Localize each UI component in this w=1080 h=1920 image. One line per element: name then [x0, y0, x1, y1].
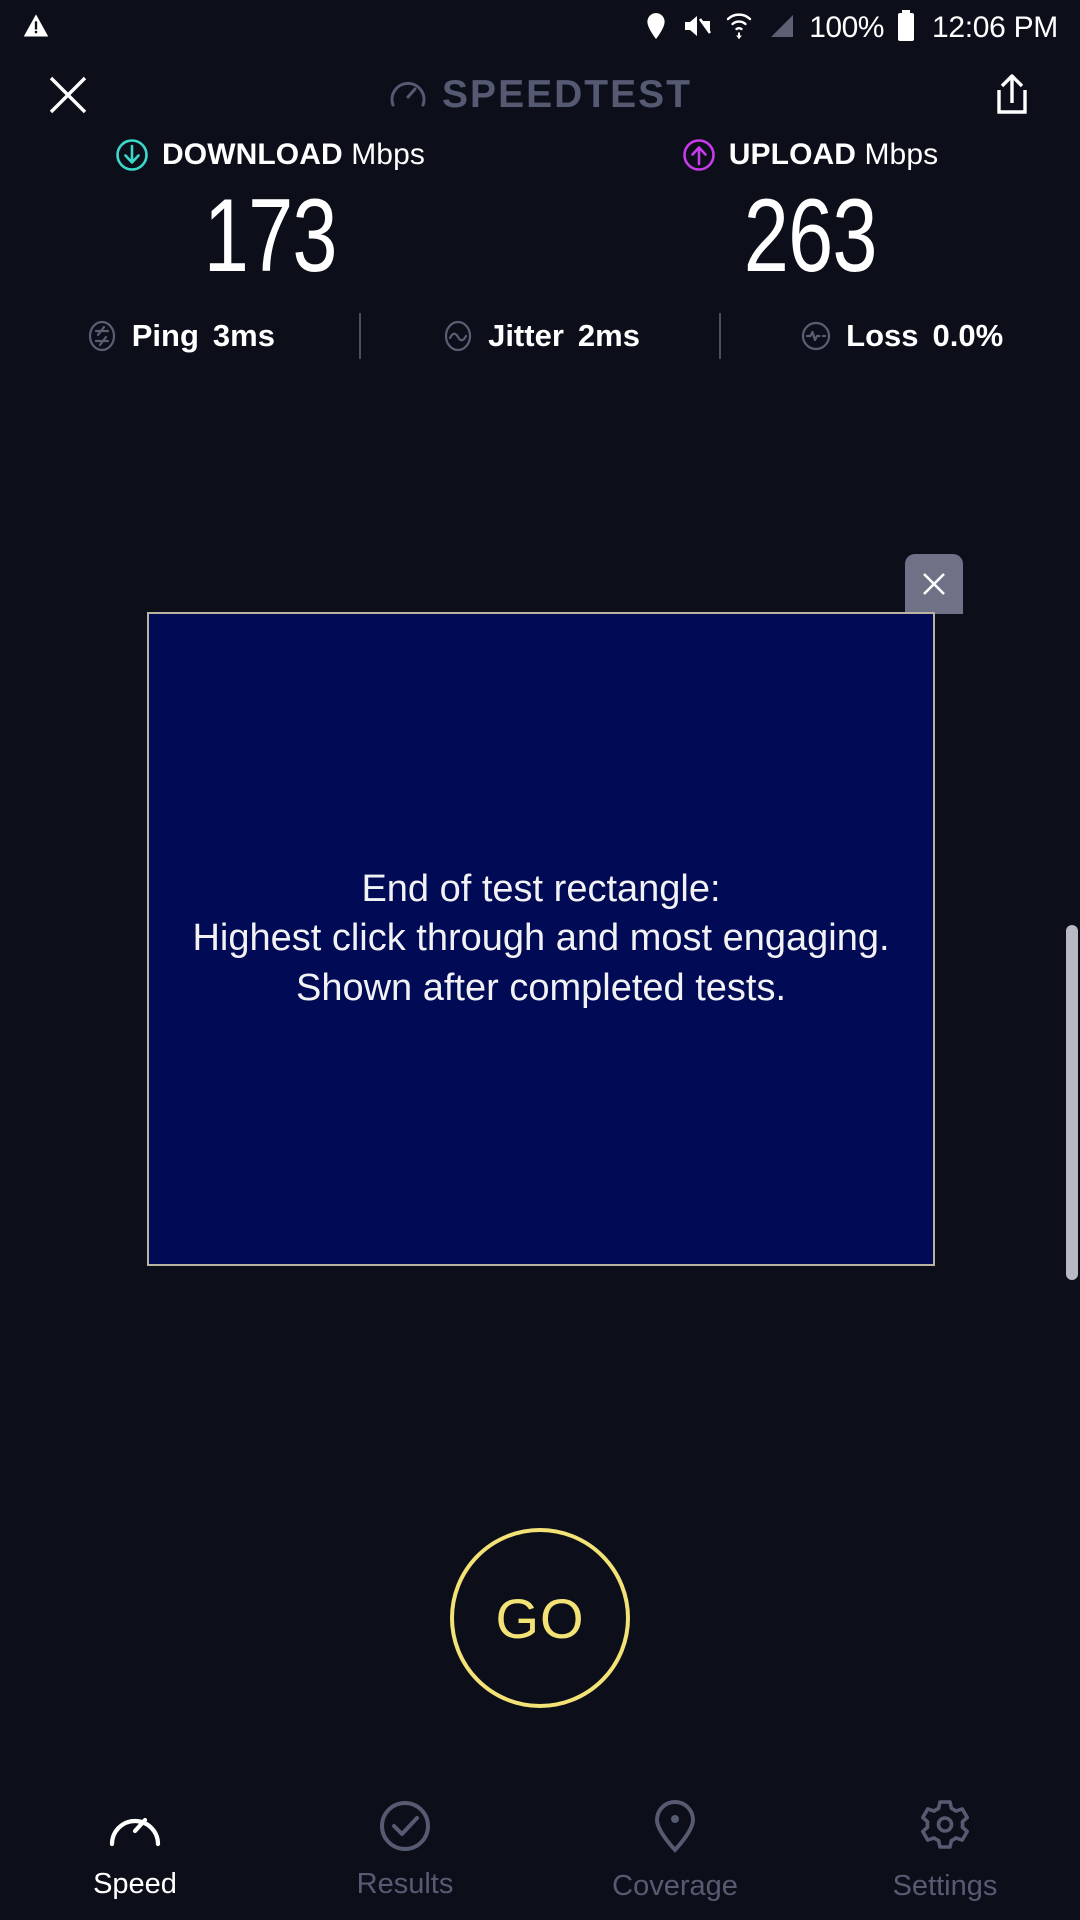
check-circle-icon [375, 1800, 435, 1852]
map-pin-icon [647, 1798, 703, 1854]
upload-unit: Mbps [864, 138, 938, 171]
warning-triangle-icon [22, 12, 50, 45]
nav-item-settings[interactable]: Settings [810, 1780, 1080, 1920]
nav-label-settings: Settings [893, 1870, 998, 1903]
loss-icon [798, 318, 834, 354]
app-title: SPEEDTEST [442, 73, 692, 117]
ping-icon [84, 318, 120, 354]
upload-result: UPLOAD Mbps 263 [540, 138, 1080, 288]
advertisement-container: End of test rectangle: Highest click thr… [147, 612, 935, 1266]
cellular-signal-icon [766, 12, 796, 45]
nav-item-coverage[interactable]: Coverage [540, 1780, 810, 1920]
metric-ping: Ping 3ms [0, 318, 359, 354]
upload-value: 263 [743, 184, 876, 288]
metric-loss: Loss 0.0% [721, 318, 1080, 354]
go-button-label: GO [495, 1586, 584, 1651]
status-bar: 100% 12:06 PM [0, 0, 1080, 56]
share-button[interactable] [984, 67, 1040, 123]
page-scrollbar[interactable] [1066, 925, 1078, 1280]
close-test-button[interactable] [40, 67, 96, 123]
status-clock: 12:06 PM [932, 13, 1058, 43]
upload-label: UPLOAD [729, 138, 856, 171]
nav-item-results[interactable]: Results [270, 1780, 540, 1920]
location-pin-icon [643, 12, 669, 45]
nav-label-coverage: Coverage [612, 1870, 738, 1903]
wifi-icon [725, 11, 753, 46]
download-unit: Mbps [351, 138, 425, 171]
speedtest-logo: SPEEDTEST [0, 73, 1080, 117]
nav-label-results: Results [357, 1868, 454, 1901]
advertisement-banner[interactable]: End of test rectangle: Highest click thr… [147, 612, 935, 1266]
share-icon [990, 72, 1034, 118]
download-arrow-circle-icon [115, 138, 149, 172]
jitter-icon [440, 318, 476, 354]
metrics-row: Ping 3ms Jitter 2ms Loss 0.0% [0, 310, 1080, 362]
app-header: SPEEDTEST [0, 56, 1080, 134]
go-button[interactable]: GO [450, 1528, 630, 1708]
results-summary: DOWNLOAD Mbps 173 UPLOAD Mbps [0, 138, 1080, 288]
speedometer-icon [388, 75, 428, 115]
speedometer-icon [105, 1800, 165, 1852]
nav-item-speed[interactable]: Speed [0, 1780, 270, 1920]
nav-label-speed: Speed [93, 1868, 177, 1901]
metric-loss-value: 0.0% [933, 318, 1004, 354]
metric-loss-label: Loss [846, 318, 918, 354]
volume-muted-icon [682, 12, 712, 45]
metric-ping-label: Ping [132, 318, 199, 354]
battery-full-icon [897, 10, 915, 47]
battery-percent-label: 100% [809, 13, 884, 43]
close-icon [45, 72, 91, 118]
ad-text: End of test rectangle: Highest click thr… [192, 865, 889, 1013]
ad-close-button[interactable] [905, 554, 963, 614]
gear-icon [917, 1798, 973, 1854]
metric-ping-value: 3ms [213, 318, 275, 354]
bottom-navigation: Speed Results Coverage Settings [0, 1780, 1080, 1920]
metric-jitter: Jitter 2ms [361, 318, 720, 354]
download-label: DOWNLOAD [162, 138, 343, 171]
close-icon [919, 569, 949, 599]
speedtest-app-screen: 100% 12:06 PM SPEEDTEST [0, 0, 1080, 1920]
upload-arrow-circle-icon [682, 138, 716, 172]
metric-jitter-value: 2ms [578, 318, 640, 354]
download-result: DOWNLOAD Mbps 173 [0, 138, 540, 288]
download-value: 173 [203, 184, 336, 288]
metric-jitter-label: Jitter [488, 318, 564, 354]
